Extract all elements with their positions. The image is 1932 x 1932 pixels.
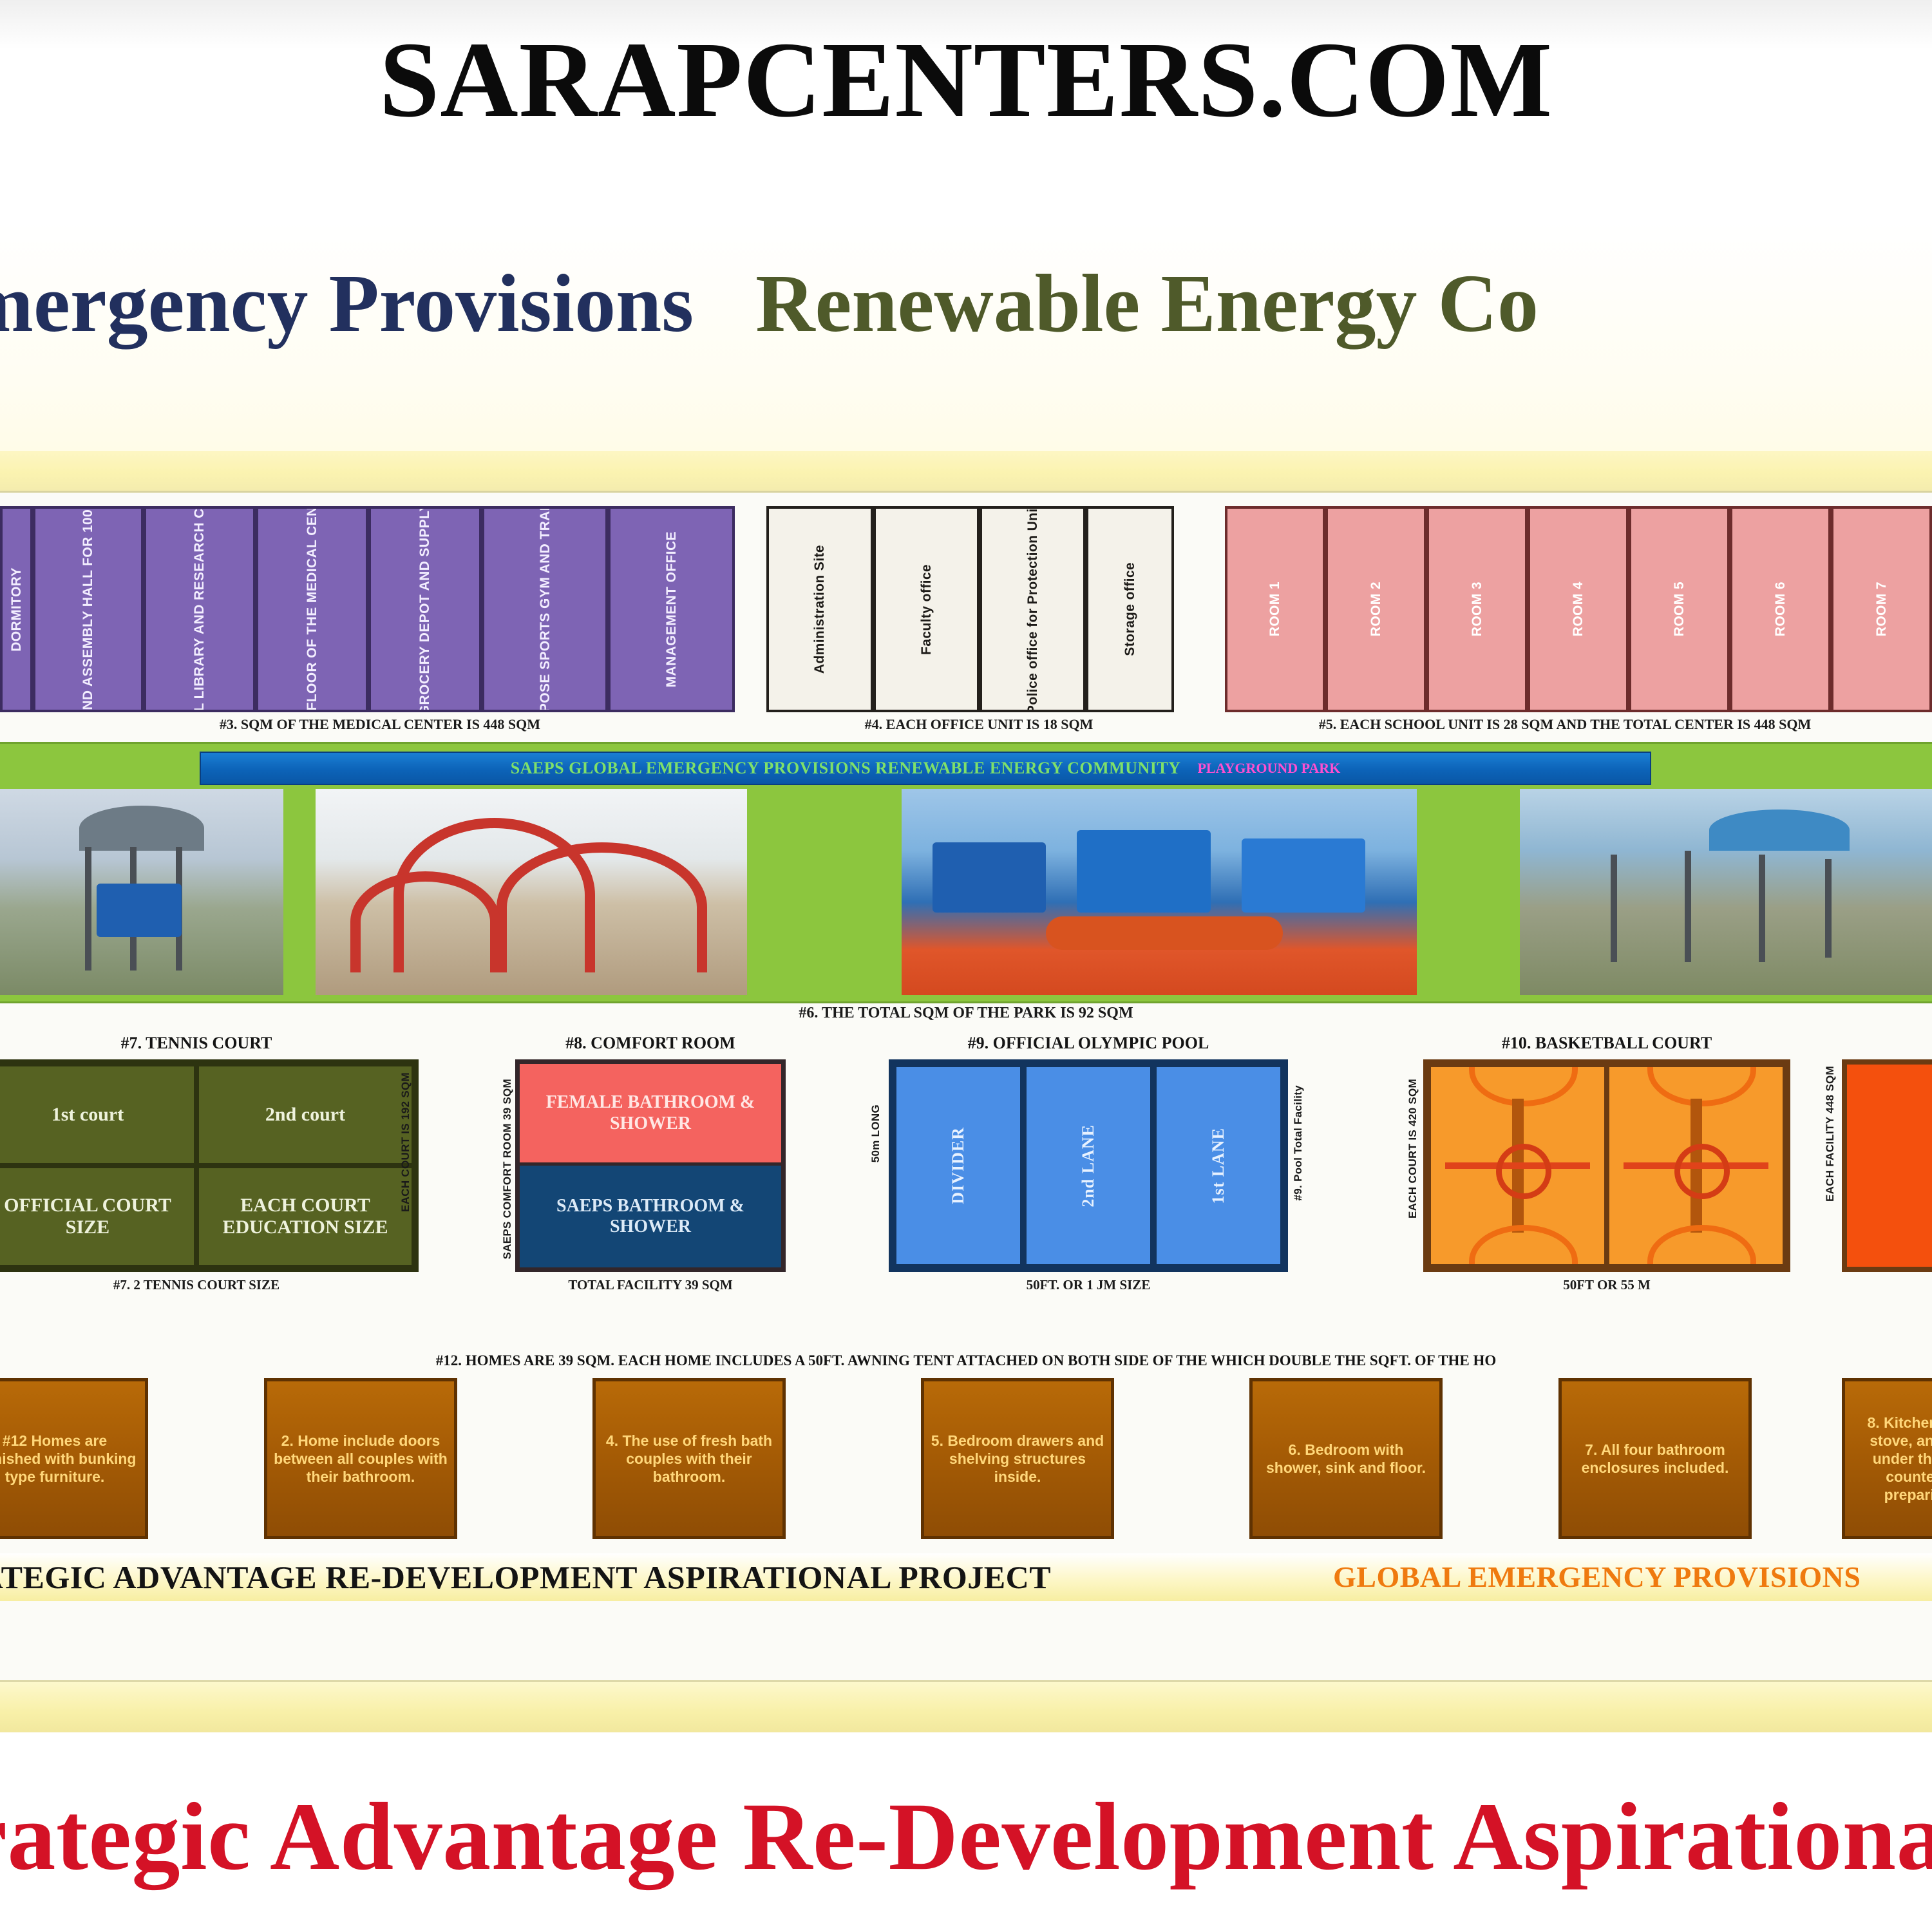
basketball-court-2 [1607, 1065, 1785, 1267]
strip-cell-purple-1[interactable]: THEATER AND ASSEMBLY HALL FOR 1000 PERSO… [33, 506, 144, 712]
strip-cell-purple-6[interactable]: MANAGEMENT OFFICE [608, 506, 734, 712]
poster-body: DORMITORY THEATER AND ASSEMBLY HALL FOR … [0, 451, 1932, 1732]
pool-lane-3: 1st LANE [1153, 1064, 1283, 1267]
olympic-pool-footer: 50FT. OR 1 JM SIZE [889, 1277, 1288, 1293]
note-box-7[interactable]: 8. Kitchen with sink, stove, and cabinet… [1842, 1378, 1932, 1539]
strip-cell-purple-4[interactable]: GROCERY DEPOT AND SUPPLY [368, 506, 482, 712]
subtitle-band: Emergency Provisions Renewable Energy Co [0, 222, 1932, 451]
sport-extra-facility[interactable]: EACH FACILITY 448 SQM [1842, 1034, 1932, 1336]
strip-cell-purple-3[interactable]: 2nd FLOOR OF THE MEDICAL CENTER [256, 506, 368, 712]
playground-photo-strip [0, 789, 1932, 995]
basketball-side-label: EACH COURT IS 420 SQM [1406, 1079, 1419, 1218]
poster-footer-right: GLOBAL EMERGENCY PROVISIONS [1333, 1560, 1861, 1594]
note-box-4[interactable]: 5. Bedroom drawers and shelving structur… [921, 1378, 1114, 1539]
pool-lane-1: DIVIDER [893, 1064, 1023, 1267]
community-banner: SAEPS GLOBAL EMERGENCY PROVISIONS RENEWA… [200, 752, 1651, 785]
strip-cell-purple-5[interactable]: MULTI-PURPOSE SPORTS GYM AND TRAINING HA… [482, 506, 608, 712]
strip-cell-purple-2[interactable]: DIGITAL LIBRARY AND RESEARCH CENTER [144, 506, 256, 712]
strip-gap-1 [735, 506, 766, 712]
strip-cell-room-4[interactable]: ROOM 4 [1528, 506, 1629, 712]
strip-gap-2 [1174, 506, 1224, 712]
strip-cell-faculty[interactable]: Faculty office [873, 506, 980, 712]
tennis-court-title: #7. TENNIS COURT [0, 1034, 419, 1053]
strip-cell-storage[interactable]: Storage office [1086, 506, 1174, 712]
strip-caption-right: #5. EACH SCHOOL UNIT IS 28 SQM AND THE T… [1198, 716, 1932, 735]
playground-photo-2 [316, 789, 747, 995]
subtitle-renewable-energy: Renewable Energy Co [755, 258, 1539, 349]
poster-footer-strip: STRATEGIC ADVANTAGE RE-DEVELOPMENT ASPIR… [0, 1553, 1932, 1601]
comfort-room-footer: TOTAL FACILITY 39 SQM [515, 1277, 786, 1293]
photo-spacer-3 [1417, 789, 1520, 995]
title-band: SARAPCENTERS.COM [0, 0, 1932, 222]
subtitle-line: Emergency Provisions Renewable Energy Co [0, 262, 1932, 345]
pool-side-label-right: #9. Pool Total Facility [1292, 1085, 1305, 1200]
strip-caption-mid: #4. EACH OFFICE UNIT IS 18 SQM [760, 716, 1198, 735]
site-title: SARAPCENTERS.COM [0, 23, 1932, 137]
tennis-quadrant-4: EACH COURT EDUCATION SIZE [196, 1166, 414, 1267]
strip-cell-room-7[interactable]: ROOM 7 [1831, 506, 1932, 712]
note-box-2[interactable]: 2. Home include doors between all couple… [264, 1378, 457, 1539]
poster-bottom-rule [0, 1680, 1932, 1732]
tennis-quadrant-1: 1st court [0, 1064, 196, 1166]
comfort-room-diagram: FEMALE BATHROOM & SHOWER SAEPS BATHROOM … [515, 1059, 786, 1272]
strip-cell-purple-0[interactable]: DORMITORY [0, 506, 33, 712]
community-banner-title: SAEPS GLOBAL EMERGENCY PROVISIONS RENEWA… [511, 759, 1181, 778]
strip-cell-room-3[interactable]: ROOM 3 [1426, 506, 1528, 712]
playground-photo-4 [1520, 789, 1932, 995]
strip-cell-room-1[interactable]: ROOM 1 [1225, 506, 1326, 712]
playground-photo-3 [902, 789, 1417, 995]
basketball-court-diagram [1423, 1059, 1790, 1272]
comfort-room-title: #8. COMFORT ROOM [515, 1034, 786, 1053]
strip-cell-room-2[interactable]: ROOM 2 [1325, 506, 1426, 712]
comfort-room-side-label: SAEPS COMFORT ROOM 39 SQM [501, 1079, 514, 1259]
photo-spacer-2 [747, 789, 902, 995]
subtitle-emergency-provisions: Emergency Provisions [0, 258, 694, 349]
pool-lane-2: 2nd LANE [1023, 1064, 1153, 1267]
strip-cell-admin[interactable]: Administration Site [766, 506, 874, 712]
extra-facility-diagram [1842, 1059, 1932, 1272]
home-feature-notes: #12 Homes are furnished with bunking typ… [0, 1378, 1932, 1546]
homes-note-header: #12. HOMES ARE 39 SQM. EACH HOME INCLUDE… [0, 1352, 1932, 1373]
tennis-quadrant-3: OFFICIAL COURT SIZE [0, 1166, 196, 1267]
basketball-footer: 50FT OR 55 M [1423, 1277, 1790, 1293]
tennis-quadrant-2: 2nd court [196, 1064, 414, 1166]
strip-captions: #3. SQM OF THE MEDICAL CENTER IS 448 SQM… [0, 716, 1932, 735]
facility-strip: DORMITORY THEATER AND ASSEMBLY HALL FOR … [0, 506, 1932, 712]
olympic-pool-title: #9. OFFICIAL OLYMPIC POOL [889, 1034, 1288, 1053]
sport-comfort-room[interactable]: #8. COMFORT ROOM FEMALE BATHROOM & SHOWE… [515, 1034, 786, 1336]
poster-page: SARAPCENTERS.COM Emergency Provisions Re… [0, 0, 1932, 1932]
sport-tennis-court[interactable]: #7. TENNIS COURT 1st court 2nd court OFF… [0, 1034, 419, 1336]
photo-spacer-1 [283, 789, 316, 995]
bottom-headline: Strategic Advantage Re-Development Aspir… [0, 1781, 1932, 1892]
comfort-room-female: FEMALE BATHROOM & SHOWER [520, 1064, 781, 1166]
strip-cell-police[interactable]: Police office for Protection Unit [980, 506, 1086, 712]
sport-basketball-court[interactable]: #10. BASKETBALL COURT [1423, 1034, 1790, 1336]
note-box-1[interactable]: #12 Homes are furnished with bunking typ… [0, 1378, 148, 1539]
olympic-pool-diagram: DIVIDER 2nd LANE 1st LANE [889, 1059, 1288, 1272]
basketball-court-title: #10. BASKETBALL COURT [1423, 1034, 1790, 1053]
comfort-room-male: SAEPS BATHROOM & SHOWER [520, 1166, 781, 1267]
tennis-footer: #7. 2 TENNIS COURT SIZE [0, 1277, 419, 1293]
basketball-court-1 [1428, 1065, 1607, 1267]
extra-facility-side-label: EACH FACILITY 448 SQM [1824, 1066, 1837, 1202]
pool-side-label-left: 50m LONG [869, 1104, 882, 1162]
community-banner-subtitle: PLAYGROUND PARK [1197, 760, 1340, 777]
note-box-3[interactable]: 4. The use of fresh bath couples with th… [592, 1378, 786, 1539]
sport-olympic-pool[interactable]: #9. OFFICIAL OLYMPIC POOL DIVIDER 2nd LA… [889, 1034, 1288, 1336]
tennis-court-diagram: 1st court 2nd court OFFICIAL COURT SIZE … [0, 1059, 419, 1272]
bottom-headline-band: Strategic Advantage Re-Development Aspir… [0, 1732, 1932, 1932]
playground-green-band: SAEPS GLOBAL EMERGENCY PROVISIONS RENEWA… [0, 742, 1932, 1003]
note-box-5[interactable]: 6. Bedroom with shower, sink and floor. [1249, 1378, 1443, 1539]
strip-cell-room-5[interactable]: ROOM 5 [1629, 506, 1730, 712]
poster-top-rule [0, 451, 1932, 493]
playground-photo-1 [0, 789, 283, 995]
sports-diagrams-row: #7. TENNIS COURT 1st court 2nd court OFF… [0, 1034, 1932, 1336]
poster-footer-left: STRATEGIC ADVANTAGE RE-DEVELOPMENT ASPIR… [0, 1558, 1051, 1596]
strip-cell-room-6[interactable]: ROOM 6 [1730, 506, 1831, 712]
park-size-caption: #6. THE TOTAL SQM OF THE PARK IS 92 SQM [0, 1005, 1932, 1027]
note-box-6[interactable]: 7. All four bathroom enclosures included… [1558, 1378, 1752, 1539]
tennis-side-label: EACH COURT IS 192 SQM [399, 1072, 412, 1212]
strip-caption-left: #3. SQM OF THE MEDICAL CENTER IS 448 SQM [0, 716, 760, 735]
